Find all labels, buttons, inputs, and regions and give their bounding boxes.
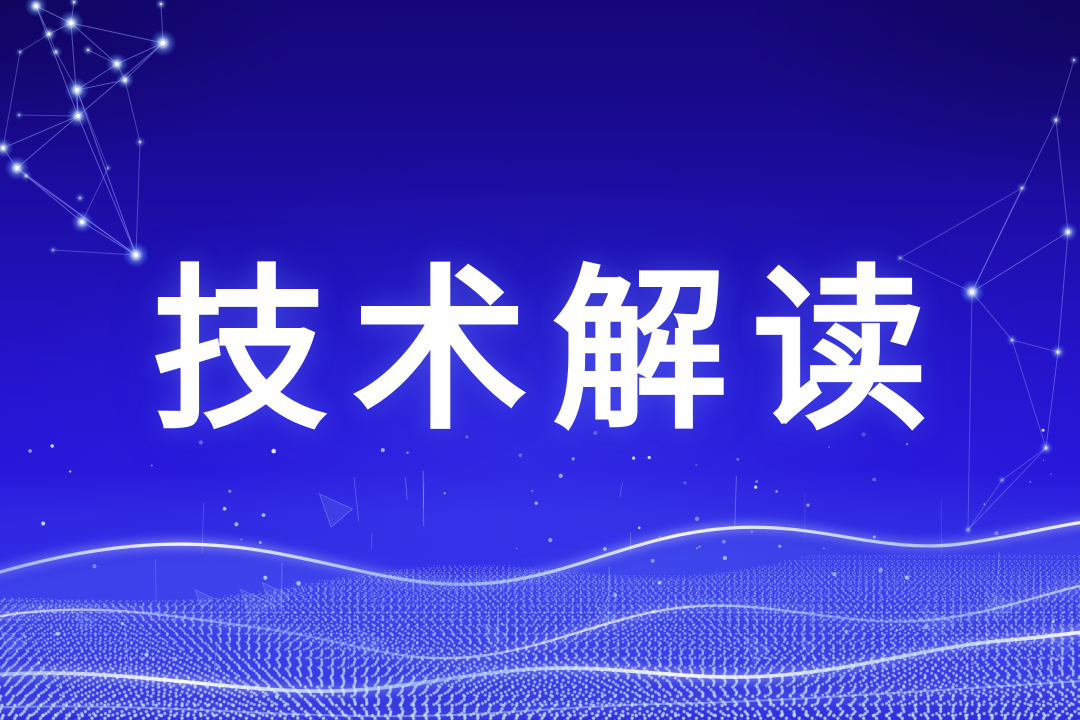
tech-banner: 技术解读 [0, 0, 1080, 720]
wave-decoration [0, 470, 1080, 720]
wave-crest-lines [0, 470, 1080, 720]
page-title: 技术解读 [128, 264, 952, 440]
title-container: 技术解读 [0, 252, 1080, 452]
